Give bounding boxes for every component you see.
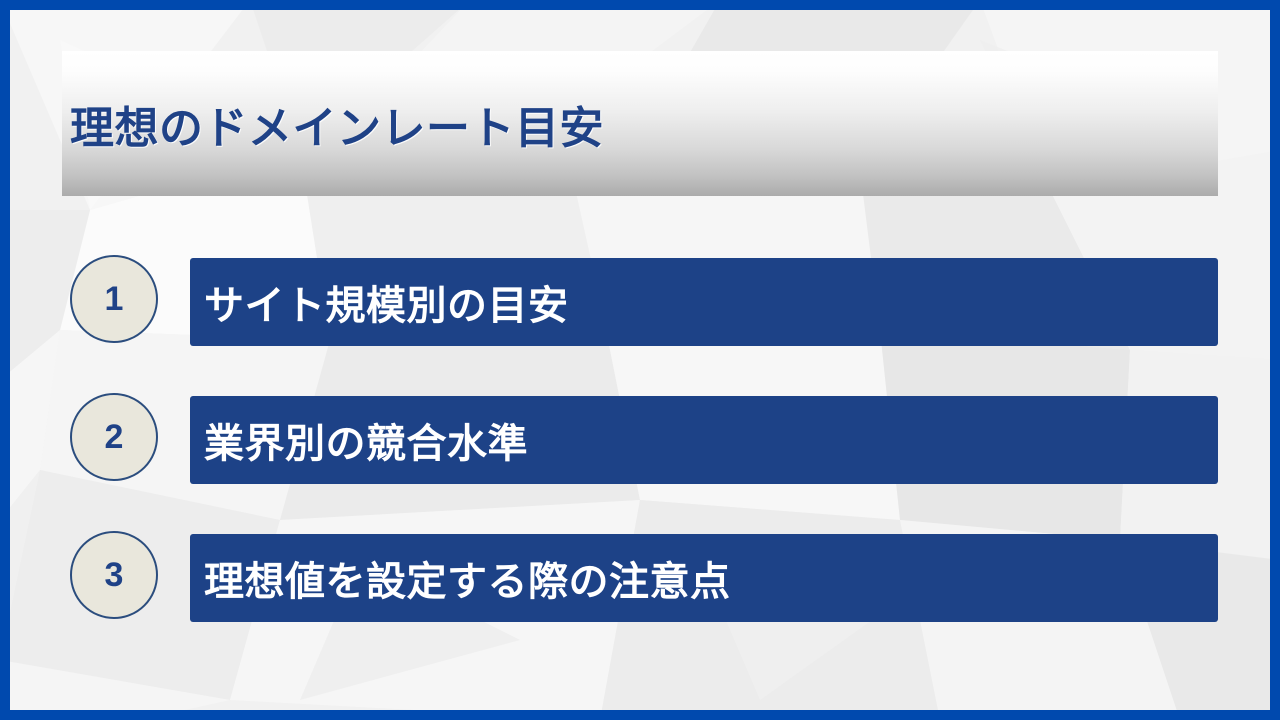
agenda-bar-1[interactable]: サイト規模別の目安 (190, 258, 1218, 346)
agenda-label-1: サイト規模別の目安 (204, 273, 569, 331)
agenda-bar-2[interactable]: 業界別の競合水準 (190, 396, 1218, 484)
agenda-bar-3[interactable]: 理想値を設定する際の注意点 (190, 534, 1218, 622)
agenda-number-badge-1: 1 (70, 255, 158, 343)
agenda-row-1[interactable]: 1 サイト規模別の目安 (62, 256, 1218, 346)
agenda-label-2: 業界別の競合水準 (204, 411, 528, 469)
title-banner: 理想のドメインレート目安 (62, 51, 1218, 196)
slide-canvas: 理想のドメインレート目安 1 サイト規模別の目安 2 業界別の競合水準 3 理想… (0, 0, 1280, 720)
agenda-number-badge-3: 3 (70, 531, 158, 619)
page-title: 理想のドメインレート目安 (62, 51, 1218, 196)
agenda-number-badge-2: 2 (70, 393, 158, 481)
agenda-row-2[interactable]: 2 業界別の競合水準 (62, 394, 1218, 484)
agenda-row-3[interactable]: 3 理想値を設定する際の注意点 (62, 532, 1218, 622)
agenda-label-3: 理想値を設定する際の注意点 (204, 549, 731, 607)
